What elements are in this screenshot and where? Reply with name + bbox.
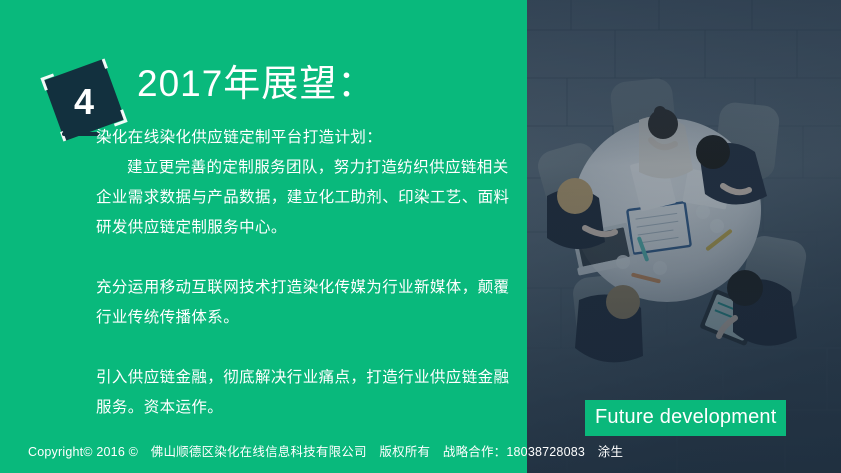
- badge-number: 4: [74, 81, 94, 122]
- body-heading: 染化在线染化供应链定制平台打造计划：: [96, 123, 516, 153]
- body-paragraph-3: 引入供应链金融，彻底解决行业痛点，打造行业供应链金融服务。资本运作。: [96, 363, 516, 423]
- footer-copyright: Copyright© 2016 © 佛山顺德区染化在线信息科技有限公司 版权所有…: [0, 432, 623, 473]
- future-development-label: Future development: [585, 400, 786, 436]
- paragraph-spacer: [96, 333, 516, 363]
- page-title: 2017年展望：: [137, 62, 375, 106]
- body-paragraph-1: 建立更完善的定制服务团队，努力打造纺织供应链相关企业需求数据与产品数据，建立化工…: [96, 153, 516, 243]
- footer-bar: Copyright© 2016 © 佛山顺德区染化在线信息科技有限公司 版权所有…: [0, 432, 841, 473]
- body-content: 染化在线染化供应链定制平台打造计划： 建立更完善的定制服务团队，努力打造纺织供应…: [96, 123, 516, 423]
- paragraph-spacer: [96, 243, 516, 273]
- title-dash-divider: [62, 132, 100, 136]
- body-paragraph-2: 充分运用移动互联网技术打造染化传媒为行业新媒体，颠覆行业传统传播体系。: [96, 273, 516, 333]
- meeting-photo: Future development: [527, 0, 841, 473]
- slide-root: Future development 4 2017年展望： 染化在线染化供应链定…: [0, 0, 841, 473]
